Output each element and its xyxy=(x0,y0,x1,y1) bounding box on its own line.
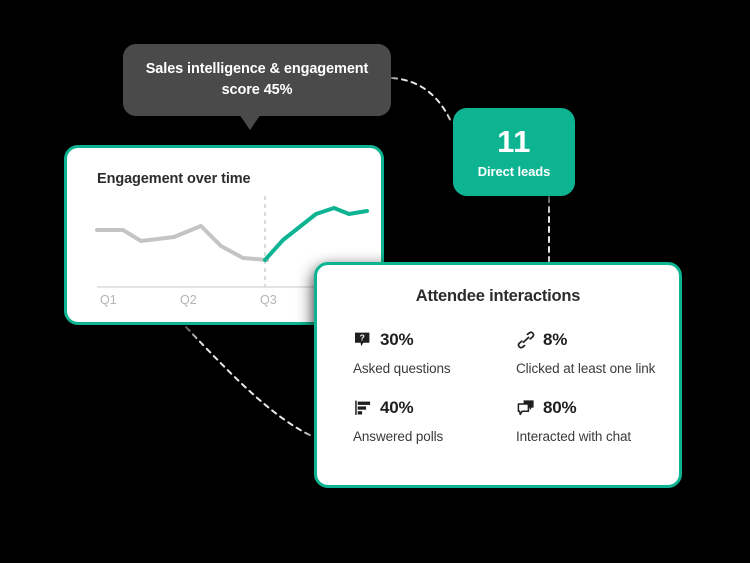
infographic-canvas: Sales intelligence & engagement score 45… xyxy=(0,0,750,563)
stat-head: 80% xyxy=(516,396,679,420)
direct-leads-value: 11 xyxy=(497,126,531,157)
question-bubble-icon: ? xyxy=(353,330,373,350)
stat-value: 8% xyxy=(543,330,567,350)
stat-clicked-link: 8% Clicked at least one link xyxy=(516,328,679,376)
chart-series-past xyxy=(97,226,267,260)
direct-leads-label: Direct leads xyxy=(478,164,551,179)
stat-asked-questions: ? 30% Asked questions xyxy=(353,328,516,376)
stat-value: 80% xyxy=(543,398,576,418)
chart-series-projected xyxy=(265,208,367,260)
stat-answered-polls: 40% Answered polls xyxy=(353,396,516,444)
stat-head: ? 30% xyxy=(353,328,516,352)
svg-text:?: ? xyxy=(360,333,365,343)
interactions-title: Attendee interactions xyxy=(317,287,679,306)
stat-value: 40% xyxy=(380,398,413,418)
chart-xtick-q1: Q1 xyxy=(100,293,117,307)
chart-title: Engagement over time xyxy=(97,171,251,187)
chart-xtick-q3: Q3 xyxy=(260,293,277,307)
connector-tooltip-to-badge xyxy=(392,78,452,124)
interactions-stats-grid: ? 30% Asked questions xyxy=(317,306,679,444)
tooltip-text: Sales intelligence & engagement score 45… xyxy=(123,59,391,101)
chat-bubbles-icon xyxy=(516,398,536,418)
poll-bars-icon xyxy=(353,398,373,418)
stat-interacted-chat: 80% Interacted with chat xyxy=(516,396,679,444)
link-icon xyxy=(516,330,536,350)
tooltip-tail-icon xyxy=(239,114,261,130)
attendee-interactions-card: Attendee interactions ? 30% Asked questi… xyxy=(314,262,682,488)
stat-head: 8% xyxy=(516,328,679,352)
stat-label: Clicked at least one link xyxy=(516,361,679,376)
connector-chart-to-interactions xyxy=(186,327,314,437)
stat-head: 40% xyxy=(353,396,516,420)
stat-label: Interacted with chat xyxy=(516,429,679,444)
engagement-score-tooltip: Sales intelligence & engagement score 45… xyxy=(123,44,391,116)
stat-label: Asked questions xyxy=(353,361,516,376)
direct-leads-badge: 11 Direct leads xyxy=(453,108,575,196)
stat-label: Answered polls xyxy=(353,429,516,444)
stat-value: 30% xyxy=(380,330,413,350)
chart-xtick-q2: Q2 xyxy=(180,293,197,307)
